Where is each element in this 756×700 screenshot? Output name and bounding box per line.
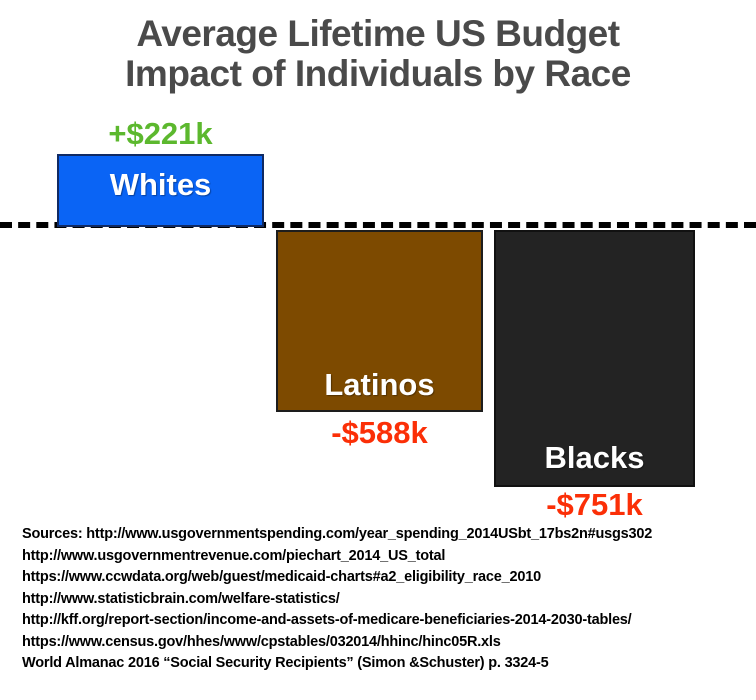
bar-category-label-latinos: Latinos <box>278 368 481 402</box>
bar-latinos: Latinos <box>276 230 483 412</box>
source-line-7: World Almanac 2016 “Social Security Reci… <box>22 653 756 675</box>
bar-blacks: Blacks <box>494 230 695 487</box>
bar-chart-plot-area: +$221k Whites Latinos -$588k Blacks -$75… <box>0 0 756 520</box>
bar-value-label-latinos: -$588k <box>276 416 483 450</box>
source-line-4: http://www.statisticbrain.com/welfare-st… <box>22 589 756 611</box>
source-line-2: http://www.usgovernmentrevenue.com/piech… <box>22 546 756 568</box>
bar-category-label-blacks: Blacks <box>496 441 693 475</box>
source-line-3: https://www.ccwdata.org/web/guest/medica… <box>22 567 756 589</box>
sources-block: Sources: http://www.usgovernmentspending… <box>22 524 756 675</box>
source-line-5: http://kff.org/report-section/income-and… <box>22 610 756 632</box>
bar-value-label-whites: +$221k <box>57 117 264 151</box>
source-line-1: Sources: http://www.usgovernmentspending… <box>22 524 756 546</box>
bar-value-label-blacks: -$751k <box>494 488 695 522</box>
bar-category-label-whites: Whites <box>59 168 262 202</box>
source-line-6: https://www.census.gov/hhes/www/cpstable… <box>22 632 756 654</box>
bar-whites: Whites <box>57 154 264 227</box>
